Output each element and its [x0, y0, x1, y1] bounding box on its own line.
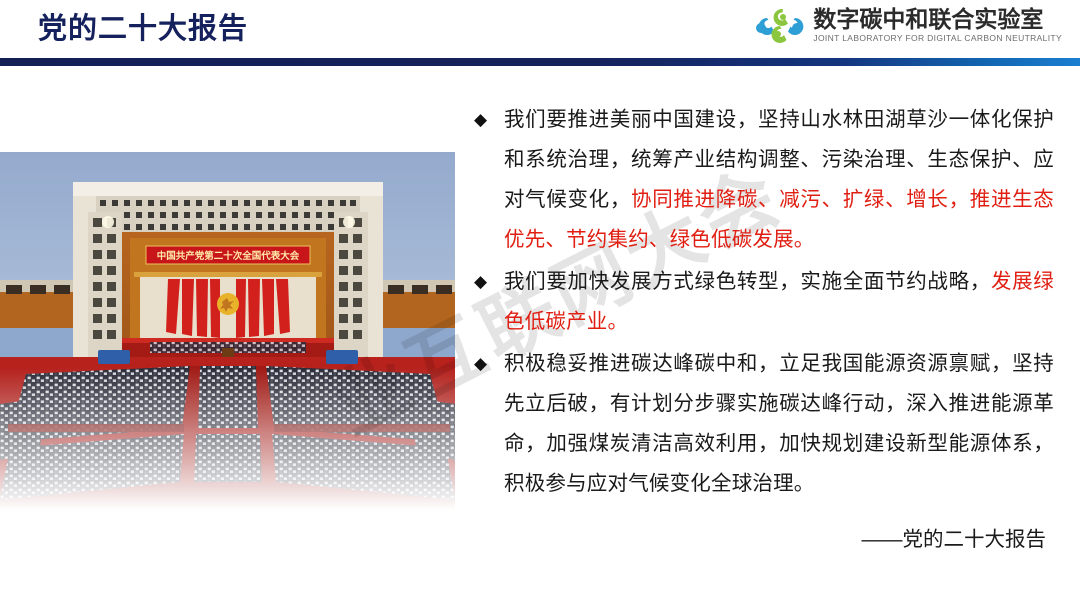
bullet-list: ◆ 我们要推进美丽中国建设，坚持山水林田湖草沙一体化保护和系统治理，统筹产业结构… — [474, 100, 1054, 506]
bullet-text: 我们要推进美丽中国建设，坚持山水林田湖草沙一体化保护和系统治理，统筹产业结构调整… — [504, 100, 1054, 260]
bullet-text: 积极稳妥推进碳达峰碳中和，立足我国能源资源禀赋，坚持先立后破，有计划分步骤实施碳… — [504, 344, 1054, 504]
slide-header: 党的二十大报告 数字碳中和联合实验室 JOINT LABORATORY FOR … — [0, 0, 1080, 62]
svg-text:中国共产党第二十次全国代表大会: 中国共产党第二十次全国代表大会 — [157, 250, 300, 262]
lab-name-cn: 数字碳中和联合实验室 — [813, 6, 1062, 32]
bullet-text: 我们要加快发展方式绿色转型，实施全面节约战略，发展绿色低碳产业。 — [504, 262, 1054, 342]
lab-logo: 数字碳中和联合实验室 JOINT LABORATORY FOR DIGITAL … — [752, 6, 1062, 44]
bullet-segment-plain: 我们要加快发展方式绿色转型，实施全面节约战略， — [504, 270, 991, 293]
lab-name-en: JOINT LABORATORY FOR DIGITAL CARBON NEUT… — [813, 32, 1062, 44]
congress-hall-photo: 中国共产党第二十次全国代表大会 — [0, 152, 455, 510]
diamond-bullet-icon: ◆ — [474, 344, 504, 384]
list-item: ◆ 我们要加快发展方式绿色转型，实施全面节约战略，发展绿色低碳产业。 — [474, 262, 1054, 342]
diamond-bullet-icon: ◆ — [474, 100, 504, 140]
lab-logo-text: 数字碳中和联合实验室 JOINT LABORATORY FOR DIGITAL … — [813, 6, 1062, 44]
list-item: ◆ 积极稳妥推进碳达峰碳中和，立足我国能源资源禀赋，坚持先立后破，有计划分步骤实… — [474, 344, 1054, 504]
bullet-segment-plain: 积极稳妥推进碳达峰碳中和，立足我国能源资源禀赋，坚持先立后破，有计划分步骤实施碳… — [504, 352, 1054, 495]
diamond-bullet-icon: ◆ — [474, 262, 504, 302]
page-title: 党的二十大报告 — [38, 10, 248, 48]
header-divider — [0, 58, 1080, 66]
carbon-neutrality-loop-logo-icon — [752, 6, 804, 44]
list-item: ◆ 我们要推进美丽中国建设，坚持山水林田湖草沙一体化保护和系统治理，统筹产业结构… — [474, 100, 1054, 260]
source-attribution: ——党的二十大报告 — [862, 524, 1047, 556]
